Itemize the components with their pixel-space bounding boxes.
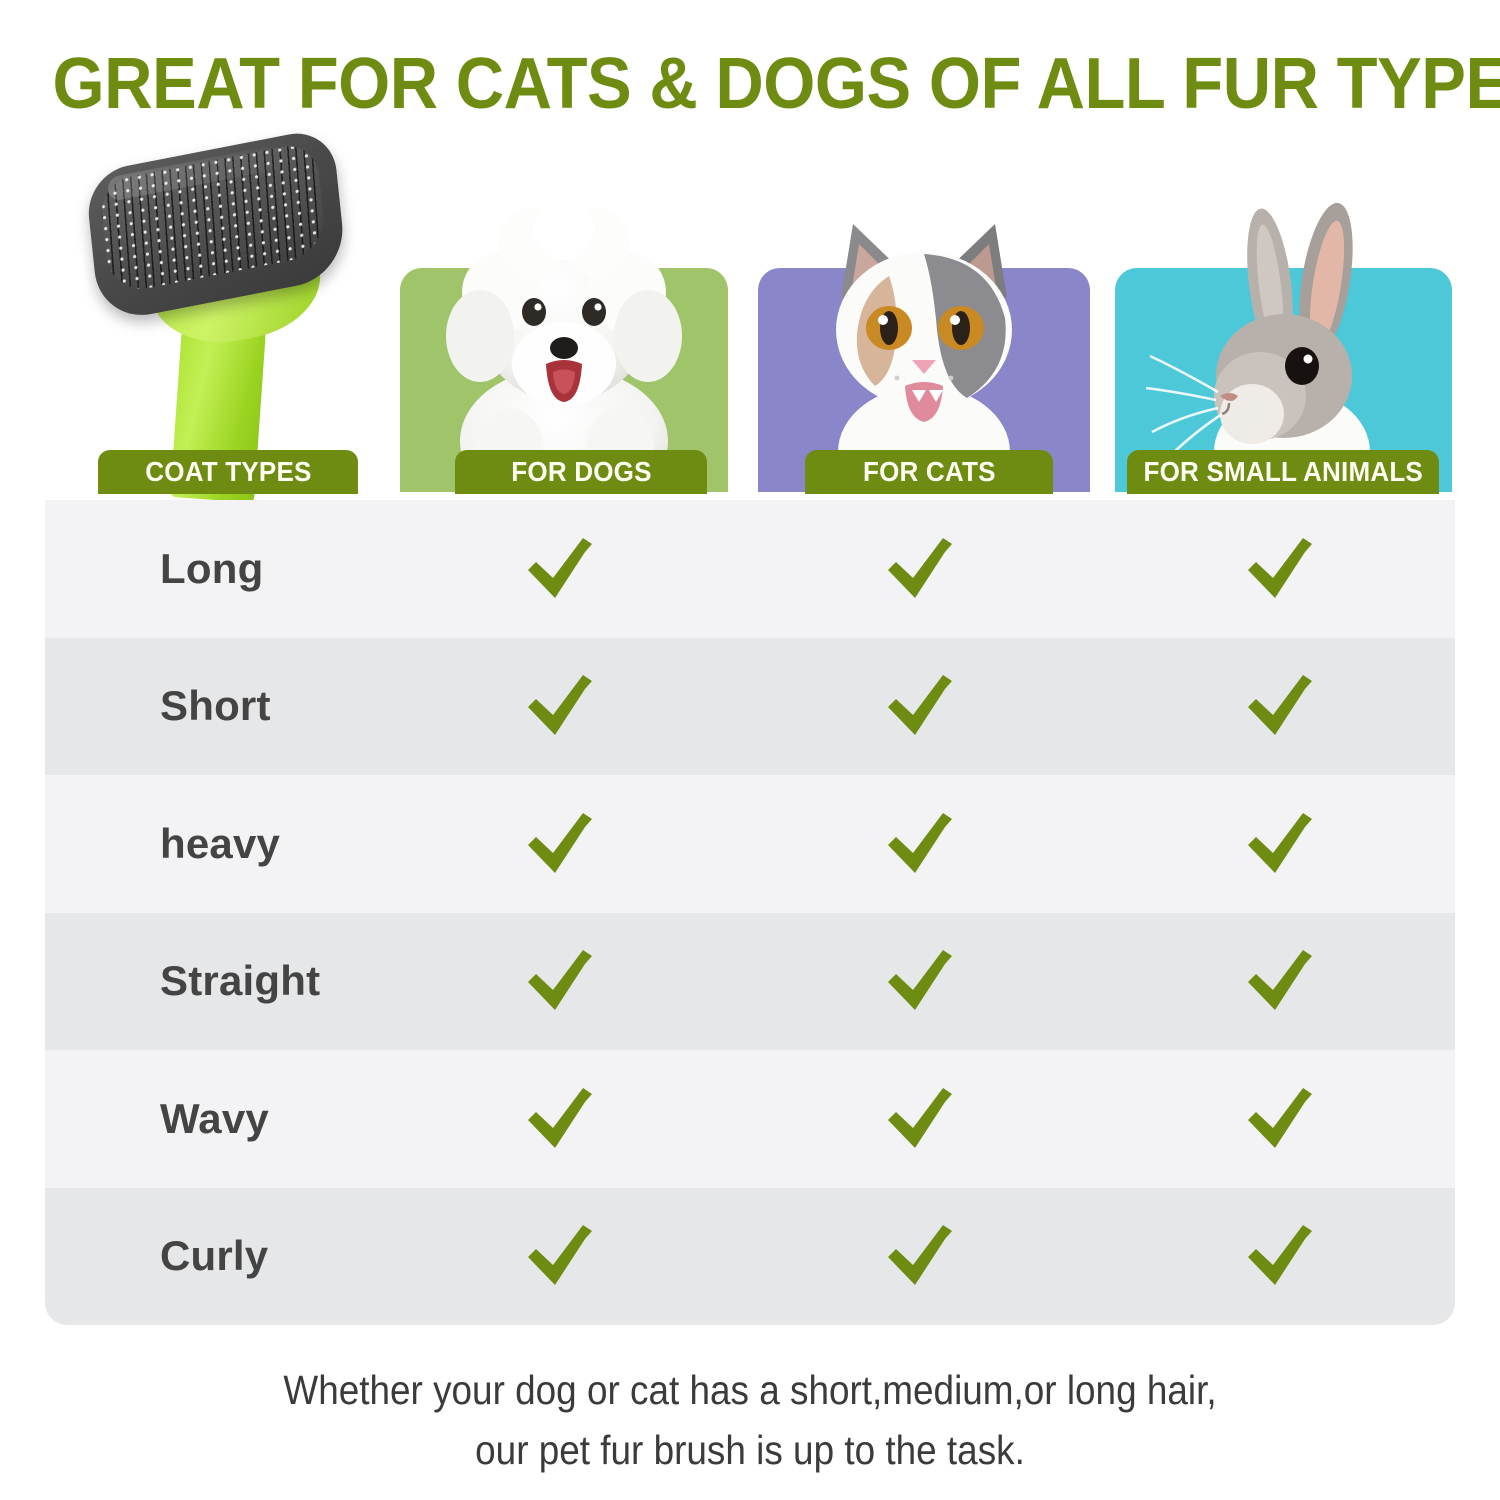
checkmark-icon xyxy=(523,811,597,877)
check-cats xyxy=(875,1211,965,1301)
column-header-for-dogs-label: FOR DOGS xyxy=(511,456,651,488)
product-brush-illustration xyxy=(90,150,380,500)
checkmark-icon xyxy=(523,673,597,739)
checkmark-icon xyxy=(883,1223,957,1289)
check-cats xyxy=(875,661,965,751)
check-small-animals xyxy=(1235,524,1325,614)
page-title: GREAT FOR CATS & DOGS OF ALL FUR TYPES xyxy=(53,44,1448,124)
check-cats xyxy=(875,1074,965,1164)
table-row: Long xyxy=(45,500,1455,638)
column-header-for-cats-label: FOR CATS xyxy=(863,456,996,488)
checkmark-icon xyxy=(883,811,957,877)
column-header-for-small-animals-label: FOR SMALL ANIMALS xyxy=(1143,456,1422,488)
checkmark-icon xyxy=(883,673,957,739)
check-small-animals xyxy=(1235,936,1325,1026)
table-row: Wavy xyxy=(45,1050,1455,1188)
table-row: heavy xyxy=(45,775,1455,913)
check-small-animals xyxy=(1235,1211,1325,1301)
checkmark-icon xyxy=(883,948,957,1014)
coat-type-label: Curly xyxy=(160,1232,268,1280)
checkmark-icon xyxy=(523,536,597,602)
coat-type-label: Long xyxy=(160,545,263,593)
checkmark-icon xyxy=(883,536,957,602)
column-header-for-cats[interactable]: FOR CATS xyxy=(805,450,1053,494)
coat-types-table: Long Short heavy xyxy=(45,500,1455,1325)
check-cats xyxy=(875,524,965,614)
coat-type-label: Short xyxy=(160,682,271,730)
checkmark-icon xyxy=(523,1223,597,1289)
checkmark-icon xyxy=(1243,673,1317,739)
check-dogs xyxy=(515,799,605,889)
check-small-animals xyxy=(1235,1074,1325,1164)
footer-caption: Whether your dog or cat has a short,medi… xyxy=(75,1360,1425,1480)
checkmark-icon xyxy=(523,948,597,1014)
column-header-coat-types[interactable]: COAT TYPES xyxy=(98,450,358,494)
coat-type-label: Wavy xyxy=(160,1095,269,1143)
checkmark-icon xyxy=(883,1086,957,1152)
column-header-for-small-animals[interactable]: FOR SMALL ANIMALS xyxy=(1127,450,1439,494)
check-small-animals xyxy=(1235,661,1325,751)
check-dogs xyxy=(515,1074,605,1164)
checkmark-icon xyxy=(523,1086,597,1152)
column-header-for-dogs[interactable]: FOR DOGS xyxy=(455,450,707,494)
check-dogs xyxy=(515,524,605,614)
caption-line-1: Whether your dog or cat has a short,medi… xyxy=(75,1360,1425,1420)
checkmark-icon xyxy=(1243,536,1317,602)
check-small-animals xyxy=(1235,799,1325,889)
check-dogs xyxy=(515,661,605,751)
checkmark-icon xyxy=(1243,948,1317,1014)
table-row: Straight xyxy=(45,913,1455,1051)
check-cats xyxy=(875,936,965,1026)
caption-line-2: our pet fur brush is up to the task. xyxy=(75,1420,1425,1480)
checkmark-icon xyxy=(1243,1086,1317,1152)
checkmark-icon xyxy=(1243,811,1317,877)
coat-type-label: heavy xyxy=(160,820,280,868)
check-cats xyxy=(875,799,965,889)
check-dogs xyxy=(515,1211,605,1301)
table-row: Short xyxy=(45,638,1455,776)
column-header-coat-types-label: COAT TYPES xyxy=(145,456,311,488)
coat-type-label: Straight xyxy=(160,957,320,1005)
table-row: Curly xyxy=(45,1188,1455,1326)
top-panel xyxy=(0,140,1500,500)
checkmark-icon xyxy=(1243,1223,1317,1289)
check-dogs xyxy=(515,936,605,1026)
